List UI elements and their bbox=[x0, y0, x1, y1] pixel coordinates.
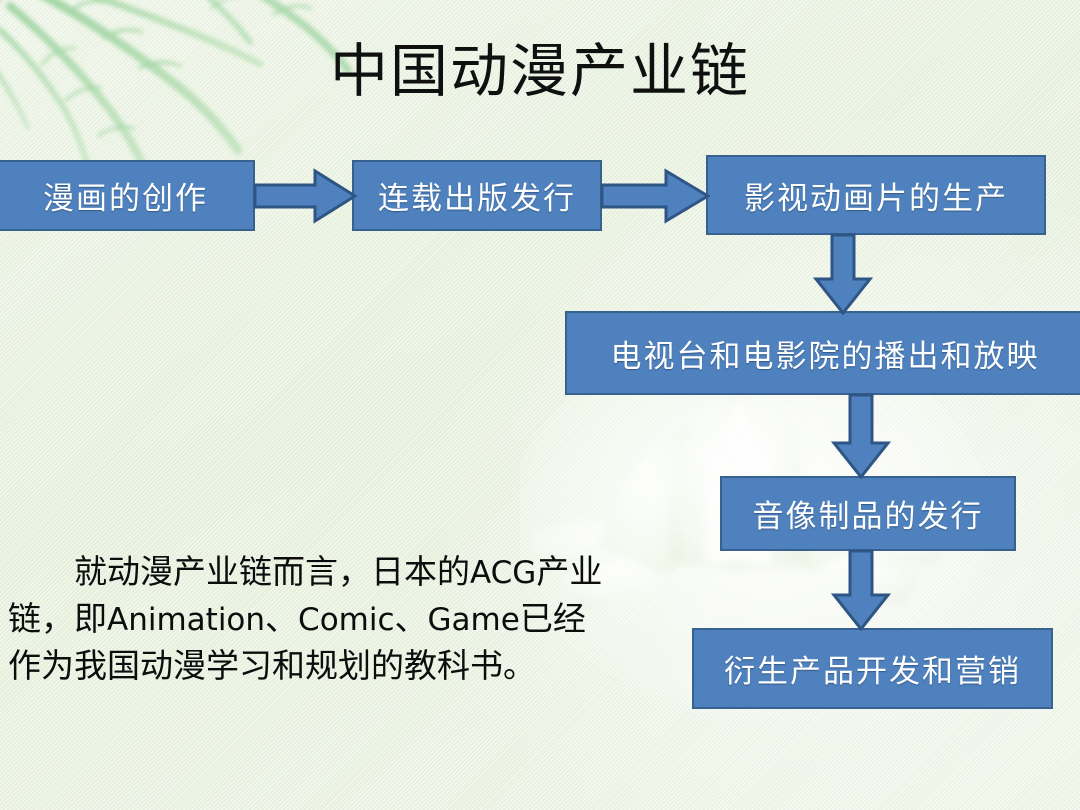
paragraph-acg: ACG bbox=[470, 555, 536, 591]
flow-box-label: 连载出版发行 bbox=[378, 173, 576, 218]
flow-box-label: 音像制品的发行 bbox=[753, 491, 984, 536]
slide-title: 中国动漫产业链 bbox=[0, 42, 1080, 103]
paragraph-segment: 就动漫产业链而言，日本的 bbox=[74, 555, 470, 591]
flow-box-manga-creation[interactable]: 漫画的创作 bbox=[0, 160, 255, 231]
flow-box-serialized-publishing[interactable]: 连载出版发行 bbox=[352, 160, 602, 231]
paragraph-separator: 、 bbox=[395, 602, 428, 638]
slide-canvas: 中国动漫产业链 漫画的创作 连载出版发行 影视动画片的生产 电视台和电影院的播出… bbox=[0, 0, 1080, 810]
flow-box-label: 电视台和电影院的播出和放映 bbox=[611, 331, 1040, 376]
flow-box-av-distribution[interactable]: 音像制品的发行 bbox=[720, 476, 1016, 551]
arrow-down-icon bbox=[830, 393, 892, 479]
flow-box-label: 影视动画片的生产 bbox=[744, 173, 1008, 218]
paragraph-separator: 、 bbox=[265, 602, 298, 638]
flow-box-label: 衍生产品开发和营销 bbox=[724, 646, 1021, 691]
arrow-down-icon bbox=[830, 549, 892, 631]
flow-box-tv-cinema-broadcast[interactable]: 电视台和电影院的播出和放映 bbox=[565, 311, 1080, 395]
paragraph-comic: Comic bbox=[298, 602, 394, 638]
flow-box-label: 漫画的创作 bbox=[43, 173, 208, 218]
paragraph-animation: Animation bbox=[107, 602, 265, 638]
body-paragraph: 就动漫产业链而言，日本的ACG产业链，即Animation、Comic、Game… bbox=[8, 550, 618, 691]
arrow-right-icon bbox=[600, 167, 710, 225]
arrow-down-icon bbox=[812, 233, 874, 315]
flow-box-animation-production[interactable]: 影视动画片的生产 bbox=[706, 155, 1046, 235]
flow-box-derivative-products[interactable]: 衍生产品开发和营销 bbox=[692, 628, 1053, 709]
paragraph-game: Game bbox=[428, 602, 520, 638]
arrow-right-icon bbox=[253, 167, 357, 225]
